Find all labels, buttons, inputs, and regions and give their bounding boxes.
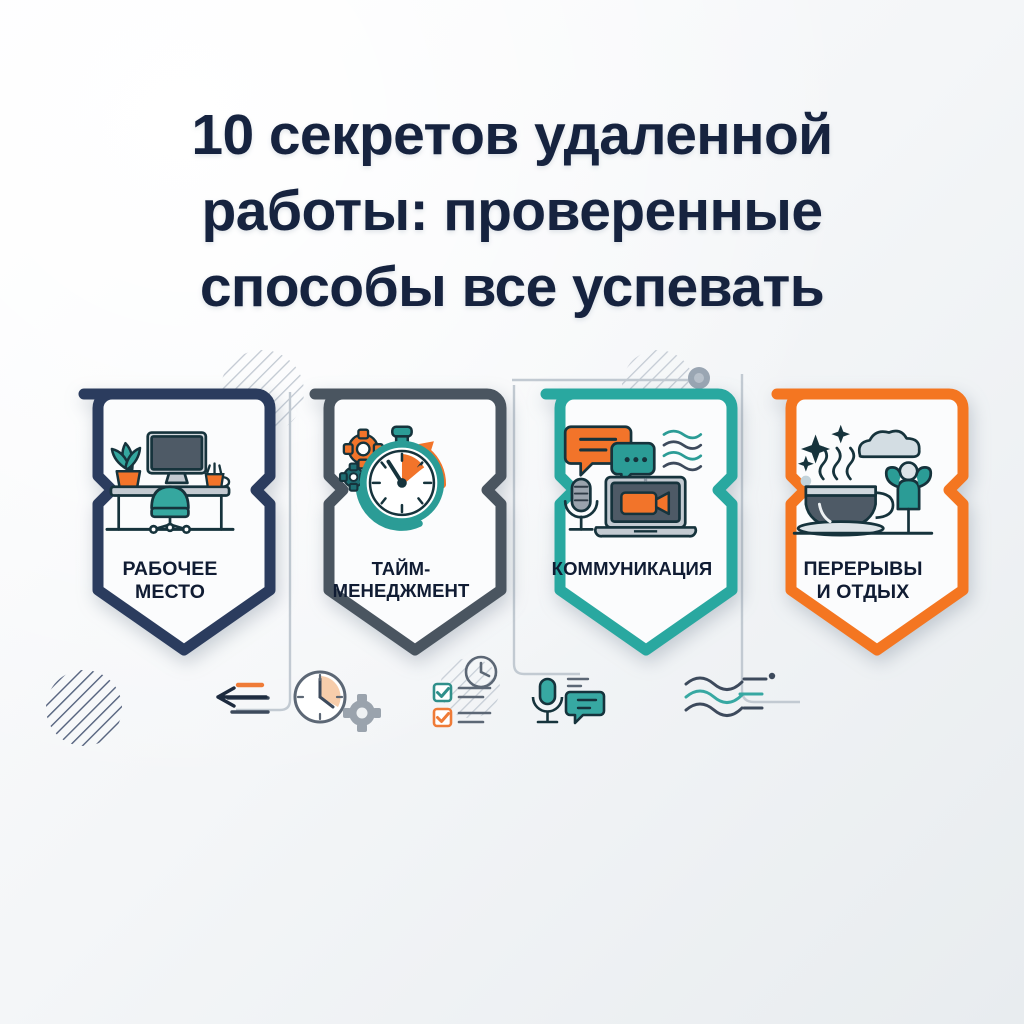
microphone-chat-icon [533,679,604,723]
title-block: 10 секретов удаленной работы: проверенны… [0,98,1024,325]
infographic-poster: 10 секретов удаленной работы: проверенны… [0,0,1024,1024]
hatch-pattern-bottom-left [44,668,126,750]
card-communication[interactable]: КОММУНИКАЦИЯ [524,386,740,658]
wave-lines-icon [686,673,775,716]
checklist-icon [434,684,490,726]
card-time-management[interactable]: ТАЙМ- МЕНЕДЖМЕНТ [293,386,509,658]
card-breaks-rest[interactable]: ПЕРЕРЫВЫ И ОТДЫХ [755,386,971,658]
card-workspace[interactable]: РАБОЧЕЕ МЕСТО [62,386,278,658]
connector-node-dot-inner [694,373,704,383]
desk-workspace-icon [95,414,245,546]
card-label-time-management: ТАЙМ- МЕНЕДЖМЕНТ [305,558,497,602]
card-label-breaks-rest: ПЕРЕРЫВЫ И ОТДЫХ [767,558,959,605]
stopwatch-gears-icon [326,414,476,546]
poster-title: 10 секретов удаленной работы: проверенны… [132,98,892,325]
cards-row: РАБОЧЕЕ МЕСТО [0,386,1024,676]
coffee-stretch-icon [788,414,938,546]
back-arrow-lines-icon [218,685,268,712]
card-label-workspace: РАБОЧЕЕ МЕСТО [74,558,266,605]
card-label-communication: КОММУНИКАЦИЯ [536,558,728,580]
clock-icon [295,672,345,722]
chat-laptop-mic-icon [557,414,707,546]
gear-icon [343,694,381,732]
